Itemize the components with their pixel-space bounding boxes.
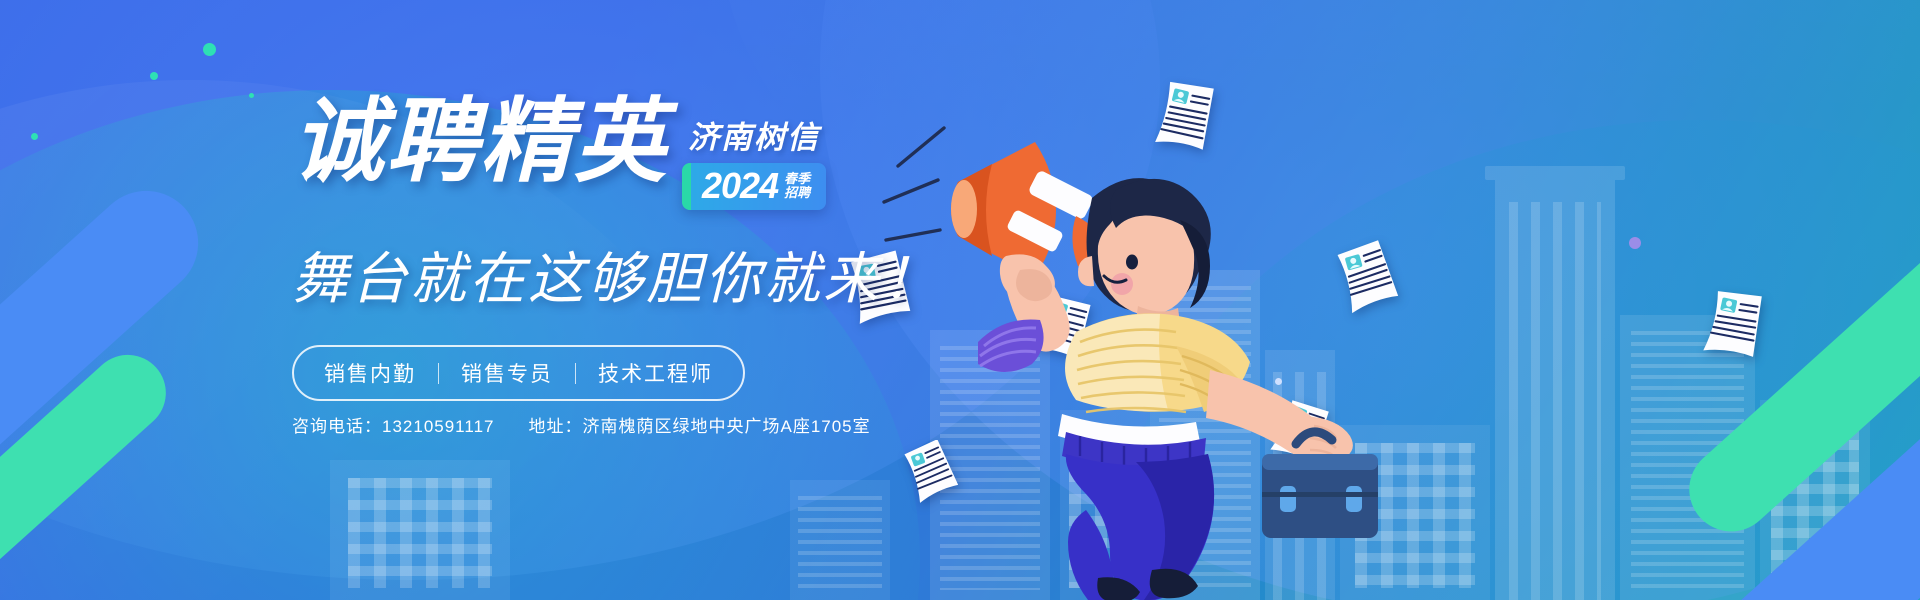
decorative-dot — [203, 43, 216, 56]
contact-address: 地址：济南槐荫区绿地中央广场A座1705室 — [528, 412, 870, 437]
headline-row: 诚聘精英 济南树信 2024 春季 招聘 — [292, 96, 1052, 210]
character-legs — [1066, 454, 1214, 600]
contact-phone: 咨询电话：13210591117 — [292, 412, 494, 437]
tag-separator — [575, 363, 576, 384]
decorative-dot — [1629, 237, 1641, 249]
decorative-dot — [150, 72, 158, 80]
position-tag-2[interactable]: 销售专员 — [461, 358, 553, 388]
badge-line-2: 招聘 — [784, 186, 810, 200]
building-tower — [1495, 180, 1615, 600]
page-title: 诚聘精英 — [292, 96, 668, 188]
banner-text-block: 诚聘精英 济南树信 2024 春季 招聘 舞台就在这够胆你就来！ 销售内勤 销售… — [292, 96, 1052, 401]
tag-separator — [438, 363, 439, 384]
positions-pill: 销售内勤 销售专员 技术工程师 — [292, 345, 745, 401]
brand-column: 济南树信 2024 春季 招聘 — [682, 96, 826, 210]
badge-line-1: 春季 — [784, 172, 810, 186]
badge-year: 2024 — [702, 168, 778, 204]
subheadline: 舞台就在这够胆你就来！ — [292, 234, 1052, 315]
building — [330, 460, 510, 600]
position-tag-3[interactable]: 技术工程师 — [598, 358, 713, 388]
badge-subtitle: 春季 招聘 — [784, 172, 810, 200]
decorative-dot — [31, 133, 38, 140]
year-badge: 2024 春季 招聘 — [682, 163, 826, 210]
position-tag-1[interactable]: 销售内勤 — [324, 358, 416, 388]
brand-name: 济南树信 — [688, 112, 820, 157]
building — [790, 480, 890, 600]
resume-paper-icon — [1695, 286, 1771, 366]
character-head — [1078, 178, 1211, 315]
decorative-dot — [249, 93, 254, 98]
recruitment-banner: 诚聘精英 济南树信 2024 春季 招聘 舞台就在这够胆你就来！ 销售内勤 销售… — [0, 0, 1920, 600]
contact-info: 咨询电话：13210591117 地址：济南槐荫区绿地中央广场A座1705室 — [292, 412, 871, 437]
